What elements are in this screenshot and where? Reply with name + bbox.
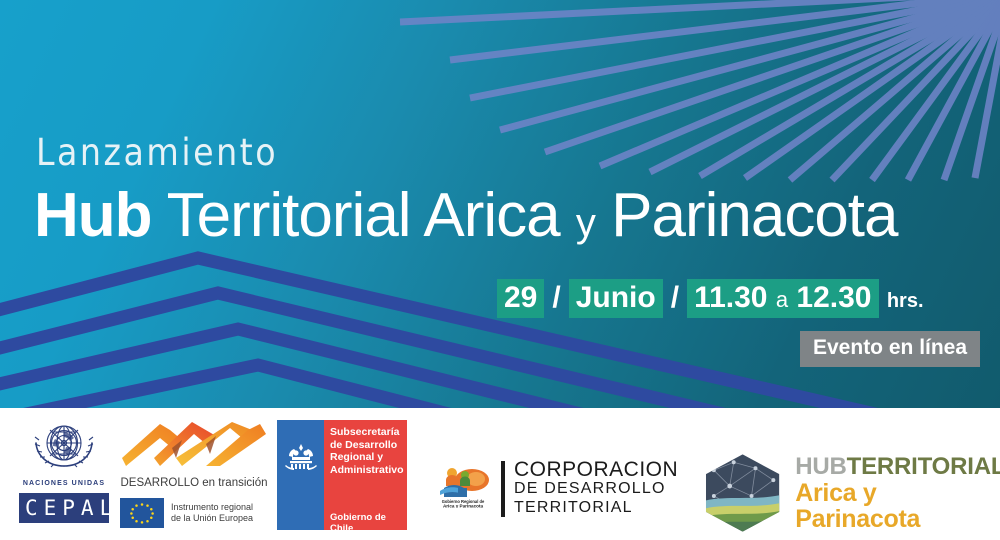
event-month: Junio xyxy=(569,279,663,318)
hub-word-territorial: TERRITORIAL xyxy=(847,453,1000,480)
page-title: Hub Territorial Arica y Parinacota xyxy=(34,185,898,254)
subdere-blue-panel xyxy=(277,420,324,530)
event-poster: Lanzamiento Hub Territorial Arica y Pari… xyxy=(0,0,1000,540)
event-datetime: 29/Junio/11.30 a 12.30 hrs. xyxy=(497,281,924,315)
eu-instrument-block: Instrumento regional de la Unión Europea xyxy=(120,498,268,528)
united-nations-emblem-icon xyxy=(14,418,114,474)
eu-line-2: de la Unión Europea xyxy=(171,513,253,524)
subdere-line-2: de Desarrollo xyxy=(330,439,404,452)
cepal-wordmark: CEPAL xyxy=(19,493,109,523)
hub-title: HUBTERRITORIAL xyxy=(795,454,1000,480)
gore-mark-block: Gobierno Regional de Arica y Parinacota xyxy=(432,464,494,513)
eyebrow-label: Lanzamiento xyxy=(36,131,278,174)
event-day: 29 xyxy=(497,279,544,318)
date-separator-2: / xyxy=(663,281,687,314)
event-time-join: a xyxy=(776,287,788,312)
subdere-line-4: Administrativo xyxy=(330,464,404,477)
un-label: NACIONES UNIDAS xyxy=(14,480,114,487)
title-parinacota: Parinacota xyxy=(611,181,897,250)
subdere-line-3: Regional y xyxy=(330,451,404,464)
event-time-end: 12.30 xyxy=(796,281,871,314)
hub-word-hub: HUB xyxy=(795,453,846,480)
chile-coat-of-arms-icon xyxy=(283,442,319,472)
gore-caption-2: Arica y Parinacota xyxy=(443,503,484,508)
title-y: y xyxy=(576,201,595,245)
title-territorial-arica: Territorial Arica xyxy=(152,181,560,250)
hub-wordmark: HUBTERRITORIAL Arica y Parinacota xyxy=(795,454,1000,532)
date-separator-1: / xyxy=(544,281,568,314)
subdere-footer: Gobierno de Chile xyxy=(330,512,407,534)
logo-desarrollo-en-transicion: DESARROLLO en transición Instrumento reg… xyxy=(120,422,268,528)
logo-cepal: NACIONES UNIDAS CEPAL xyxy=(14,418,114,523)
banner-hero: Lanzamiento Hub Territorial Arica y Pari… xyxy=(0,0,1000,408)
logo-hub-territorial: HUBTERRITORIAL Arica y Parinacota xyxy=(700,452,1000,534)
corp-wordmark: CORPORACION DE DESARROLLO TERRITORIAL xyxy=(514,460,678,517)
logo-corporacion-desarrollo-territorial: Gobierno Regional de Arica y Parinacota … xyxy=(432,460,678,517)
title-hub: Hub xyxy=(34,181,152,250)
european-union-flag-icon xyxy=(120,498,164,528)
subdere-line-1: Subsecretaría xyxy=(330,426,404,439)
logo-subdere: Subsecretaría de Desarrollo Regional y A… xyxy=(277,420,407,530)
subdere-title: Subsecretaría de Desarrollo Regional y A… xyxy=(330,426,404,476)
gore-arica-parinacota-mark-icon: Gobierno Regional de Arica y Parinacota xyxy=(432,464,494,508)
sponsor-logo-strip: NACIONES UNIDAS CEPAL xyxy=(0,408,1000,540)
corp-line-2: DE DESARROLLO xyxy=(514,479,678,498)
dt-arrows-mark-icon xyxy=(120,422,268,470)
hub-hexagon-network-mark-icon xyxy=(700,452,785,534)
corp-line-1: CORPORACION xyxy=(514,460,678,479)
hub-subtitle: Arica y Parinacota xyxy=(795,480,1000,532)
event-time-start: 11.30 xyxy=(694,281,767,314)
corp-line-3: TERRITORIAL xyxy=(514,498,678,517)
event-time-unit: hrs. xyxy=(887,290,924,312)
event-time-range: 11.30 a 12.30 xyxy=(687,279,878,318)
corp-divider xyxy=(501,461,505,517)
dt-caption: DESARROLLO en transición xyxy=(120,477,268,489)
eu-line-1: Instrumento regional xyxy=(171,502,253,513)
status-badge-online-event: Evento en línea xyxy=(800,331,980,367)
eu-instrument-label: Instrumento regional de la Unión Europea xyxy=(171,502,253,524)
banner-text-block: Lanzamiento Hub Territorial Arica y Pari… xyxy=(0,0,1000,408)
